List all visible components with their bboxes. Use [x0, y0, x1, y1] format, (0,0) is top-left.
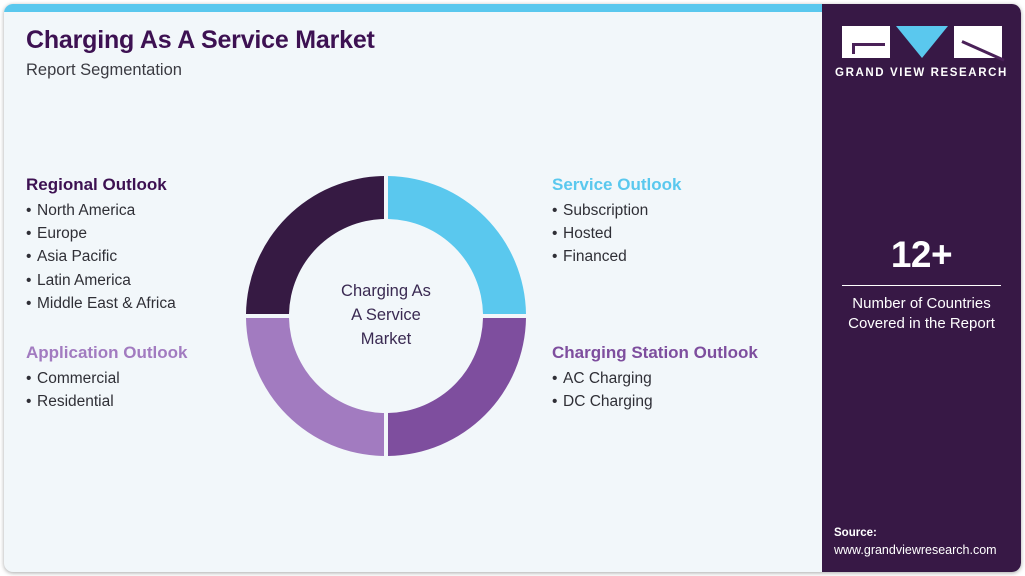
- donut-segment-charging-station: [388, 318, 526, 456]
- list-item: AC Charging: [552, 367, 758, 390]
- logo-marks: [822, 26, 1021, 58]
- letter-v-triangle-icon: [896, 26, 948, 58]
- donut-segment-service: [388, 176, 526, 314]
- segment-block-service: Service Outlook Subscription Hosted Fina…: [552, 174, 681, 269]
- list-item: Middle East & Africa: [26, 292, 176, 315]
- stat-label: Number of Countries Covered in the Repor…: [834, 294, 1009, 334]
- source-url[interactable]: www.grandviewresearch.com: [834, 542, 1011, 559]
- donut-segment-regional: [246, 176, 384, 314]
- letter-g-icon: [842, 26, 890, 58]
- countries-stat: 12+ Number of Countries Covered in the R…: [834, 236, 1009, 334]
- list-item: Europe: [26, 222, 176, 245]
- accent-top-bar: [4, 4, 822, 12]
- segment-list-application: Commercial Residential: [26, 367, 188, 413]
- infographic-page: Charging As A Service Market Report Segm…: [0, 0, 1025, 576]
- stat-number: 12+: [834, 236, 1009, 273]
- segment-heading-application: Application Outlook: [26, 342, 188, 363]
- list-item: Subscription: [552, 199, 681, 222]
- list-item: Commercial: [26, 367, 188, 390]
- segment-block-regional: Regional Outlook North America Europe As…: [26, 174, 176, 315]
- segment-heading-charging-station: Charging Station Outlook: [552, 342, 758, 363]
- list-item: Latin America: [26, 269, 176, 292]
- source-label: Source:: [834, 525, 1011, 542]
- logo-wordmark: GRAND VIEW RESEARCH: [822, 67, 1021, 79]
- list-item: Financed: [552, 245, 681, 268]
- page-subtitle: Report Segmentation: [26, 61, 786, 81]
- donut-segment-application: [246, 318, 384, 456]
- side-panel: GRAND VIEW RESEARCH 12+ Number of Countr…: [822, 4, 1021, 572]
- stat-label-line-2: Covered in the Report: [834, 314, 1009, 334]
- stat-label-line-1: Number of Countries: [834, 294, 1009, 314]
- brand-logo: GRAND VIEW RESEARCH: [822, 26, 1021, 79]
- list-item: Residential: [26, 390, 188, 413]
- page-title: Charging As A Service Market: [26, 26, 786, 55]
- segment-heading-regional: Regional Outlook: [26, 174, 176, 195]
- segment-heading-service: Service Outlook: [552, 174, 681, 195]
- letter-r-icon: [954, 26, 1002, 58]
- donut-chart-svg: [244, 174, 528, 458]
- list-item: North America: [26, 199, 176, 222]
- segment-block-application: Application Outlook Commercial Residenti…: [26, 342, 188, 413]
- stat-divider: [842, 285, 1001, 286]
- donut-chart: Charging As A Service Market: [244, 174, 528, 458]
- list-item: Asia Pacific: [26, 245, 176, 268]
- segment-list-regional: North America Europe Asia Pacific Latin …: [26, 199, 176, 314]
- list-item: DC Charging: [552, 390, 758, 413]
- segment-block-charging-station: Charging Station Outlook AC Charging DC …: [552, 342, 758, 413]
- header: Charging As A Service Market Report Segm…: [26, 26, 786, 81]
- segment-list-service: Subscription Hosted Financed: [552, 199, 681, 268]
- list-item: Hosted: [552, 222, 681, 245]
- segment-list-charging-station: AC Charging DC Charging: [552, 367, 758, 413]
- page-card: Charging As A Service Market Report Segm…: [4, 4, 1021, 572]
- source-block: Source: www.grandviewresearch.com: [834, 525, 1011, 559]
